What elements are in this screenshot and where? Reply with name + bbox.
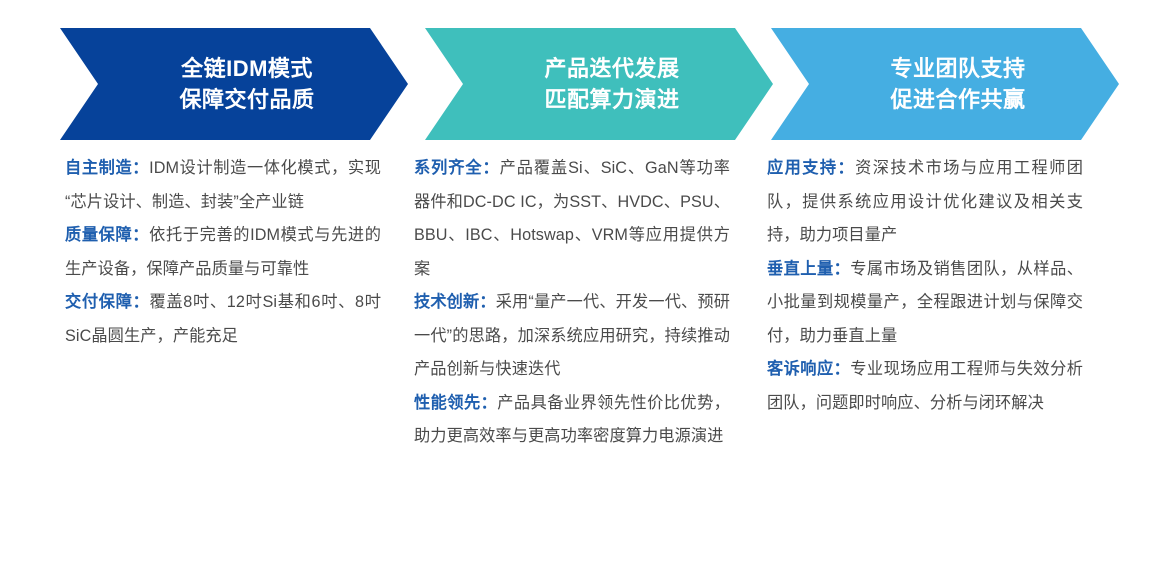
feature-paragraph: 性能领先：产品具备业界领先性价比优势，助力更高效率与更高功率密度算力电源演进 <box>414 387 730 454</box>
chevron-banner-idm-title: 全链IDM模式 保障交付品质 <box>153 53 314 115</box>
infographic-root: 全链IDM模式 保障交付品质 产品迭代发展 匹配算力演进 专业团队支持 促进合作… <box>0 0 1164 575</box>
feature-paragraph: 技术创新：采用“量产一代、开发一代、预研一代”的思路，加深系统应用研究，持续推动… <box>414 286 730 387</box>
feature-paragraph: 垂直上量：专属市场及销售团队，从样品、小批量到规模量产，全程跟进计划与保障交付，… <box>767 253 1083 354</box>
text-column-iteration: 系列齐全：产品覆盖Si、SiC、GaN等功率器件和DC-DC IC，为SST、H… <box>414 152 730 454</box>
chevron-banner-idm[interactable]: 全链IDM模式 保障交付品质 <box>60 28 408 140</box>
feature-label: 性能领先： <box>414 394 497 412</box>
feature-label: 应用支持： <box>767 159 855 177</box>
feature-label: 交付保障： <box>65 293 149 311</box>
feature-label: 自主制造： <box>65 159 149 177</box>
feature-label: 技术创新： <box>414 293 496 311</box>
text-column-team: 应用支持：资深技术市场与应用工程师团队，提供系统应用设计优化建议及相关支持，助力… <box>767 152 1083 420</box>
chevron-banner-team[interactable]: 专业团队支持 促进合作共赢 <box>771 28 1119 140</box>
text-column-idm: 自主制造：IDM设计制造一体化模式，实现“芯片设计、制造、封装”全产业链质量保障… <box>65 152 381 353</box>
feature-paragraph: 质量保障：依托于完善的IDM模式与先进的生产设备，保障产品质量与可靠性 <box>65 219 381 286</box>
feature-label: 质量保障： <box>65 226 149 244</box>
feature-paragraph: 自主制造：IDM设计制造一体化模式，实现“芯片设计、制造、封装”全产业链 <box>65 152 381 219</box>
chevron-banner-iteration-title: 产品迭代发展 匹配算力演进 <box>518 53 679 115</box>
feature-label: 垂直上量： <box>767 260 850 278</box>
chevron-banner-row: 全链IDM模式 保障交付品质 产品迭代发展 匹配算力演进 专业团队支持 促进合作… <box>0 28 1164 140</box>
feature-paragraph: 交付保障：覆盖8吋、12吋Si基和6吋、8吋SiC晶圆生产，产能充足 <box>65 286 381 353</box>
feature-label: 客诉响应： <box>767 360 850 378</box>
feature-paragraph: 客诉响应：专业现场应用工程师与失效分析团队，问题即时响应、分析与闭环解决 <box>767 353 1083 420</box>
feature-paragraph: 系列齐全：产品覆盖Si、SiC、GaN等功率器件和DC-DC IC，为SST、H… <box>414 152 730 286</box>
feature-label: 系列齐全： <box>414 159 500 177</box>
chevron-banner-iteration[interactable]: 产品迭代发展 匹配算力演进 <box>425 28 773 140</box>
feature-paragraph: 应用支持：资深技术市场与应用工程师团队，提供系统应用设计优化建议及相关支持，助力… <box>767 152 1083 253</box>
chevron-banner-team-title: 专业团队支持 促进合作共赢 <box>864 53 1025 115</box>
